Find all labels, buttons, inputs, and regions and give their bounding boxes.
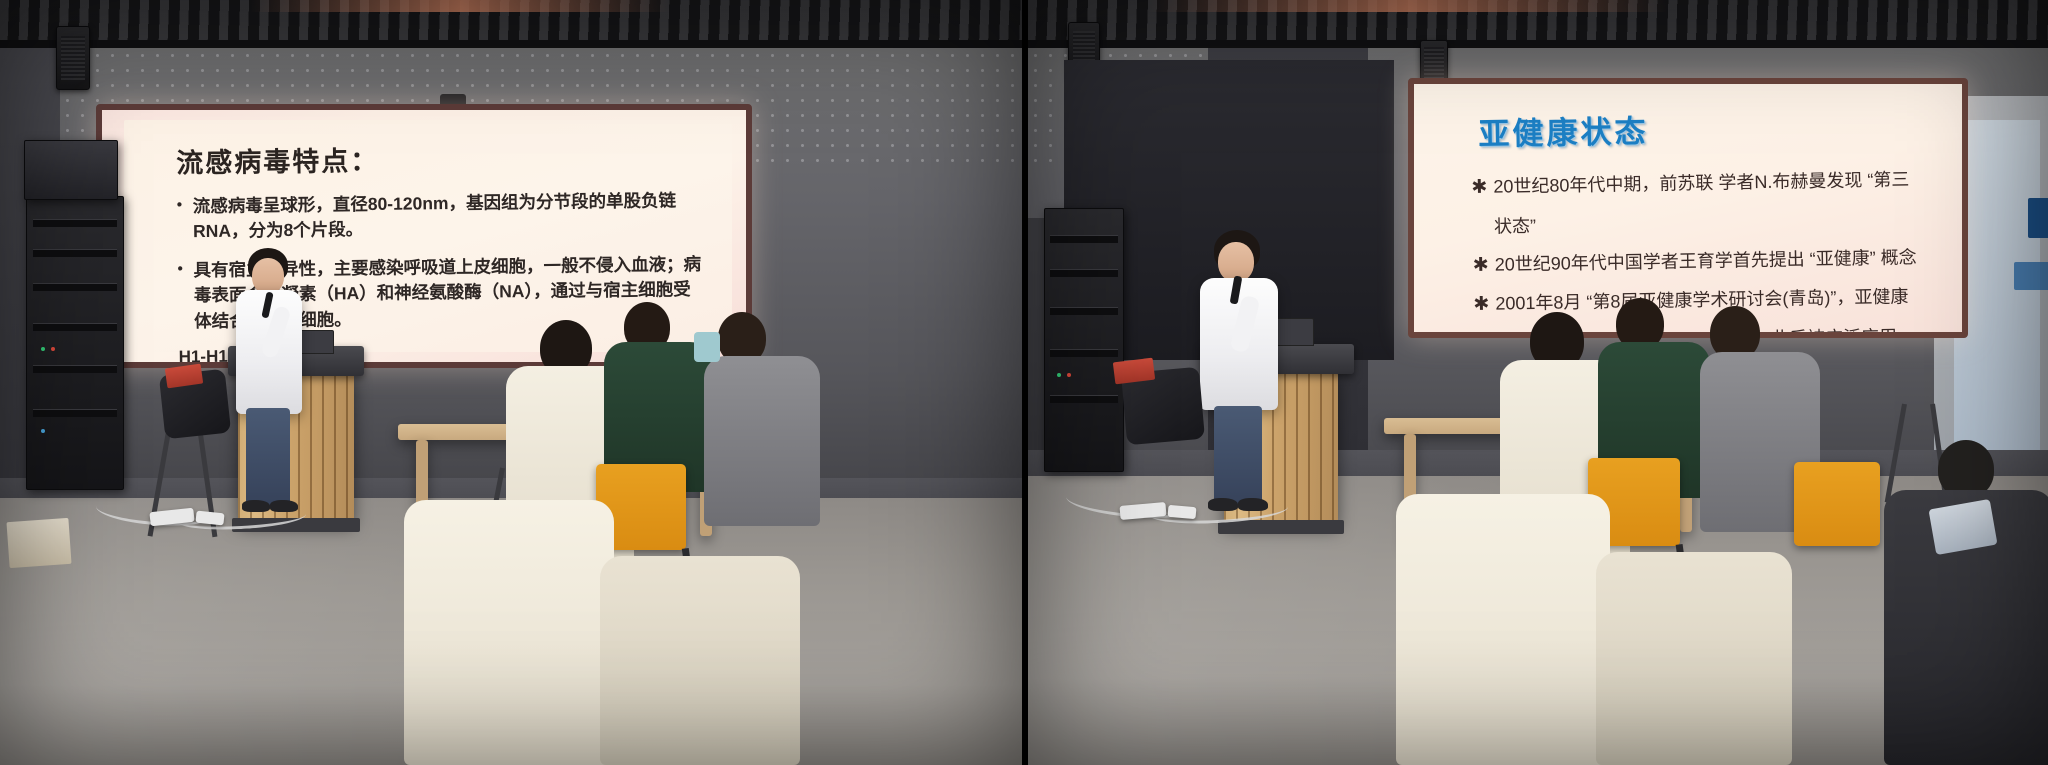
slide-title: 亚健康状态 — [1478, 100, 1962, 153]
asterisk-bullet-icon: ✱ — [1472, 251, 1494, 280]
screenshot-root: 流感病毒特点： • 流感病毒呈球形，直径80-120nm，基因组为分节段的单股负… — [0, 0, 2048, 765]
screen-surface: 亚健康状态 ✱ 20世纪80年代中期，前苏联 学者N.布赫曼发现 “第三 状态”… — [1414, 84, 1962, 332]
bullet-text: 流感病毒呈球形，直径80-120nm，基因组为分节段的单股负链RNA，分为8个片… — [193, 188, 708, 245]
presenter — [1198, 230, 1298, 520]
status-led — [51, 347, 55, 351]
asterisk-bullet-icon: ✱ — [1471, 174, 1493, 203]
slide-title: 流感病毒特点： — [176, 135, 732, 181]
slide-bullet-list: ✱ 20世纪80年代中期，前苏联 学者N.布赫曼发现 “第三 状态” ✱ 20世… — [1471, 166, 1926, 332]
power-plug — [1168, 505, 1197, 519]
torso — [1396, 494, 1610, 765]
slide-bullet: • 流感病毒呈球形，直径80-120nm，基因组为分节段的单股负链RNA，分为8… — [177, 188, 708, 245]
torso — [404, 500, 614, 765]
ceiling-warm-light — [1148, 0, 1668, 12]
podium-base — [1218, 520, 1344, 534]
bullet-continuation: 状态” — [1494, 206, 1924, 241]
cardboard-box — [6, 518, 71, 568]
torso — [600, 556, 800, 765]
speaker-icon — [56, 26, 90, 90]
equipment-rack — [26, 196, 124, 490]
slide-bullet: ✱ 20世纪80年代中期，前苏联 学者N.布赫曼发现 “第三 — [1471, 166, 1923, 202]
status-led — [1067, 373, 1071, 377]
ceiling-edge — [1028, 40, 2048, 48]
left-photo: 流感病毒特点： • 流感病毒呈球形，直径80-120nm，基因组为分节段的单股负… — [0, 0, 1022, 765]
torso — [704, 356, 820, 526]
ceiling-edge — [0, 40, 1022, 48]
right-photo: 亚健康状态 ✱ 20世纪80年代中期，前苏联 学者N.布赫曼发现 “第三 状态”… — [1022, 0, 2048, 765]
pants — [246, 408, 290, 506]
bullet-text: 20世纪90年代中国学者王育学首先提出 “亚健康” 概念 — [1494, 244, 1924, 279]
slide-bullet: ✱ 2001年8月 “第8届亚健康学术研讨会(青岛)”，亚健康 — [1473, 283, 1925, 319]
status-led — [1057, 373, 1061, 377]
slide-right: 亚健康状态 ✱ 20世纪80年代中期，前苏联 学者N.布赫曼发现 “第三 状态”… — [1414, 84, 1962, 332]
bullet-dot: • — [177, 258, 193, 281]
wall-sign — [2014, 262, 2048, 290]
wall-sign — [2028, 198, 2048, 238]
bullet-text: 20世纪80年代中期，前苏联 学者N.布赫曼发现 “第三 — [1493, 166, 1923, 201]
chair — [1794, 462, 1880, 546]
presenter — [228, 248, 318, 528]
asterisk-bullet-icon: ✱ — [1473, 291, 1495, 320]
ceiling-warm-light — [250, 0, 670, 12]
rack-top-unit — [24, 140, 118, 200]
torso — [1596, 552, 1792, 765]
head — [252, 258, 284, 294]
equipment-rack — [1044, 208, 1124, 472]
status-led — [41, 347, 45, 351]
pants — [1214, 406, 1262, 506]
status-led — [41, 429, 45, 433]
led-screen-right: 亚健康状态 ✱ 20世纪80年代中期，前苏联 学者N.布赫曼发现 “第三 状态”… — [1408, 78, 1968, 338]
cup — [694, 332, 720, 362]
slide-bullet: ✱ 20世纪90年代中国学者王育学首先提出 “亚健康” 概念 — [1472, 244, 1924, 280]
bullet-dot: • — [177, 194, 193, 217]
